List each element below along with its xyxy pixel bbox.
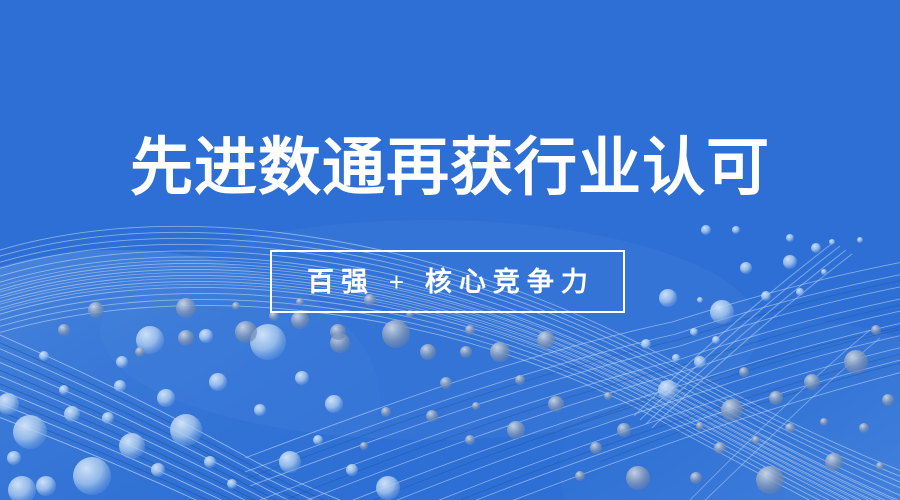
- subtitle-text: 百强 + 核心竞争力: [300, 267, 595, 297]
- page-title: 先进数通再获行业认可: [0, 131, 900, 205]
- promo-banner: 先进数通再获行业认可 百强 + 核心竞争力: [0, 0, 900, 500]
- banner-content: 先进数通再获行业认可 百强 + 核心竞争力: [0, 0, 900, 500]
- subtitle-frame: 百强 + 核心竞争力: [270, 250, 625, 313]
